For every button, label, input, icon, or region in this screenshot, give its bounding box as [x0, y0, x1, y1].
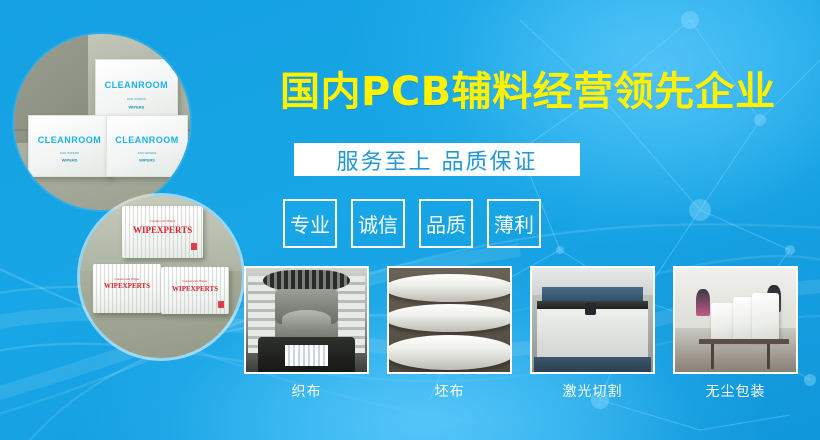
bag-subtext: ESD WIPERS: [60, 151, 79, 155]
bag-brand-text: CLEANROOM: [115, 135, 179, 145]
pack-subtext: Cleanroom Wiper: [183, 279, 208, 283]
bag-wipers-text: WIPERS: [129, 104, 145, 109]
keyword-label: 品质: [426, 209, 466, 238]
subtitle-text: 服务至上 品质保证: [337, 144, 538, 176]
keyword-label: 薄利: [494, 209, 534, 238]
pack-brand-text: WIPEXPERTS: [133, 225, 192, 235]
thumbnail-photo-packaging-room: [673, 266, 798, 374]
keyword-box-group: 专业 诚信 品质 薄利: [283, 199, 541, 248]
thumbnail-caption: 坯布: [387, 374, 512, 401]
keyword-label: 专业: [290, 209, 330, 238]
product-photo-cleanroom-wipers: CLEANROOM ESD WIPERS WIPERS CLEANROOM ES…: [14, 34, 190, 210]
product-photo-wipexperts-packs: Cleanroom Wiper WIPEXPERTS Cleanroom Wip…: [80, 196, 242, 358]
thumbnail-caption: 织布: [244, 374, 369, 401]
keyword-box-3: 品质: [419, 199, 473, 248]
bag-wipers-text: WIPERS: [139, 158, 155, 163]
process-item-weaving: 织布: [244, 266, 369, 401]
pack-subtext: Cleanroom Wiper: [114, 277, 139, 281]
subtitle-bar: 服务至上 品质保证: [294, 143, 580, 176]
pack-brand-text: WIPEXPERTS: [104, 282, 150, 290]
process-item-laser-cutting: 激光切割: [530, 266, 655, 401]
bag-wipers-text: WIPERS: [62, 158, 78, 163]
thumbnail-photo-fabric-rolls: [387, 266, 512, 374]
cleanroom-bag: CLEANROOM ESD WIPERS WIPERS: [28, 115, 111, 177]
keyword-box-2: 诚信: [351, 199, 405, 248]
wipexperts-pack: Cleanroom Wiper WIPEXPERTS: [161, 267, 229, 314]
wipexperts-pack: Cleanroom Wiper WIPEXPERTS: [122, 206, 203, 258]
process-item-greige-fabric: 坯布: [387, 266, 512, 401]
keyword-label: 诚信: [358, 209, 398, 238]
pack-stamp: [218, 301, 224, 308]
process-thumbnail-group: 织布 坯布: [244, 266, 798, 401]
pack-subtext: Cleanroom Wiper: [150, 219, 175, 223]
wipexperts-pack: Cleanroom Wiper WIPEXPERTS: [93, 264, 161, 313]
bag-subtext: ESD WIPERS: [138, 151, 157, 155]
pack-stamp: [191, 243, 197, 250]
thumbnail-caption: 无尘包装: [673, 374, 798, 401]
headline-text: 国内PCB辅料经营领先企业: [280, 72, 776, 112]
keyword-box-4: 薄利: [487, 199, 541, 248]
cleanroom-bag: CLEANROOM ESD WIPERS WIPERS: [106, 115, 189, 177]
bag-subtext: ESD WIPERS: [127, 97, 146, 101]
bag-brand-text: CLEANROOM: [105, 80, 169, 90]
thumbnail-photo-knitting-machine: [244, 266, 369, 374]
thumbnail-caption: 激光切割: [530, 374, 655, 401]
bag-brand-text: CLEANROOM: [38, 135, 102, 145]
keyword-box-1: 专业: [283, 199, 337, 248]
thumbnail-photo-laser-cutter: [530, 266, 655, 374]
promo-banner: CLEANROOM ESD WIPERS WIPERS CLEANROOM ES…: [0, 0, 820, 440]
process-item-cleanroom-packaging: 无尘包装: [673, 266, 798, 401]
pack-brand-text: WIPEXPERTS: [172, 285, 218, 293]
